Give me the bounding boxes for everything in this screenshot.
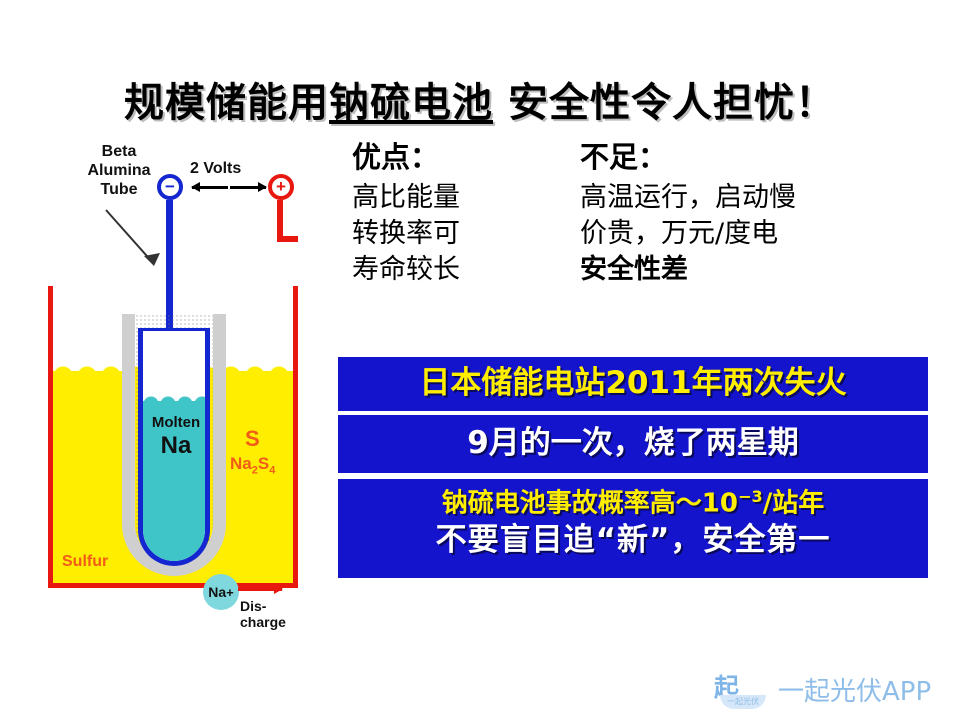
pros-cons-headings-row: 优点： 不足： [352, 138, 932, 180]
beta-label-line1: Beta [102, 143, 137, 160]
banner-safety-warning: 钠硫电池事故概率高～10−3/站年 不要盲目追“新”，安全第一 [338, 479, 928, 578]
banner-accident-rate-text: 钠硫电池事故概率高～10−3/站年 [338, 481, 928, 520]
accident-rate-exponent: −3 [738, 487, 763, 506]
pros-item-2: 转换率可 [352, 216, 580, 252]
positive-terminal-lead [277, 200, 283, 240]
sodium-ion-bubble: Na+ [203, 574, 239, 610]
sodium-symbol-label: Na [136, 432, 216, 460]
positive-terminal-elbow [277, 236, 298, 242]
cons-item-2: 价贵，万元/度电 [580, 216, 930, 252]
molten-sodium-surface-wave [143, 394, 205, 403]
cons-heading: 不足： [580, 138, 930, 176]
sulfur-symbol-label: S [245, 426, 260, 452]
sodium-polysulfide-label: Na2S4 [230, 454, 275, 476]
banner-japan-fire-text: 日本储能电站2011年两次失火 [419, 365, 846, 401]
voltage-label: 2 Volts [190, 160, 241, 178]
sodium-ion-charge: + [226, 585, 234, 600]
pros-cons-block: 优点： 不足： 高比能量 高温运行，启动慢 转换率可 价贵，万元/度电 寿命较长… [352, 138, 932, 288]
pros-cons-row: 寿命较长 安全性差 [352, 252, 932, 288]
cons-item-3: 安全性差 [580, 252, 930, 288]
na2s4-s: S [258, 454, 269, 473]
positive-terminal-icon: + [268, 174, 294, 200]
discharge-arrow-icon [238, 588, 282, 591]
page-title-underlined: 钠硫电池 [329, 80, 493, 126]
pros-cons-row: 转换率可 价贵，万元/度电 [352, 216, 932, 252]
voltage-arrow-right-icon [230, 186, 266, 189]
beta-alumina-pointer-arrow [104, 208, 168, 274]
pros-item-3: 寿命较长 [352, 252, 580, 288]
page-title-prefix: 规模储能用 [124, 80, 329, 126]
pros-heading: 优点： [352, 138, 580, 176]
pros-cons-row: 高比能量 高温运行，启动慢 [352, 180, 932, 216]
na2s4-na: Na [230, 454, 252, 473]
beta-label-line2: Alumina [87, 162, 150, 179]
banner-safety-first-text: 不要盲目追“新”，安全第一 [338, 520, 928, 560]
banner-japan-fire: 日本储能电站2011年两次失火 [338, 357, 928, 411]
accident-rate-prefix: 钠硫电池事故概率高～10 [442, 489, 738, 519]
banner-fire-duration: 9月的一次，烧了两星期 [338, 415, 928, 473]
voltage-arrow-left-icon [192, 186, 228, 189]
watermark-text: 一起光伏APP [778, 671, 931, 708]
molten-label: Molten [136, 414, 216, 431]
negative-terminal-icon: − [157, 174, 183, 200]
app-logo-subtext: 一起光伏 [720, 695, 766, 709]
page-title: 规模储能用钠硫电池 安全性令人担忧！ [0, 70, 960, 128]
page-title-suffix: 安全性令人担忧！ [493, 80, 836, 126]
pros-item-1: 高比能量 [352, 180, 580, 216]
sulfur-label: Sulfur [62, 553, 108, 571]
watermark: 起 一起光伏 一起光伏APP [714, 668, 931, 710]
beta-label-line3: Tube [100, 181, 137, 198]
discharge-line1: Dis- [240, 598, 266, 614]
discharge-label: Dis- charge [240, 598, 286, 630]
na2s4-sub2: 4 [269, 464, 275, 476]
accident-rate-suffix: /站年 [763, 489, 825, 519]
cons-item-1: 高温运行，启动慢 [580, 180, 930, 216]
sodium-ion-label: Na [208, 584, 226, 600]
app-logo-icon: 起 一起光伏 [714, 668, 770, 710]
sodium-sulfur-battery-diagram: Beta Alumina Tube 2 Volts − + Molten Na … [40, 136, 306, 596]
banner-fire-duration-text: 9月的一次，烧了两星期 [467, 425, 799, 461]
discharge-line2: charge [240, 614, 286, 630]
